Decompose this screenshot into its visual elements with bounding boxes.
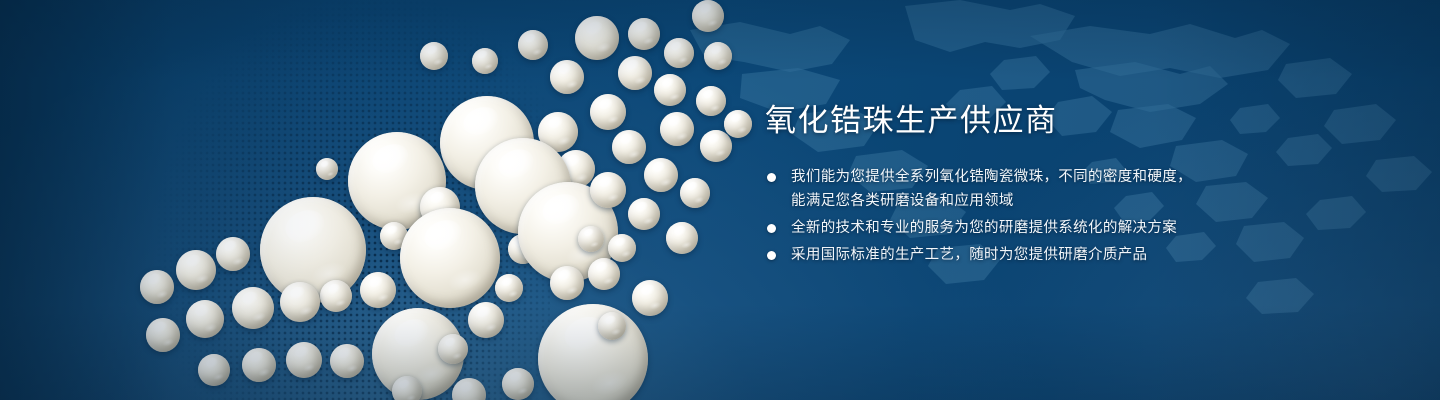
bullet-dot-icon — [767, 251, 776, 260]
feature-list-item-line: 全新的技术和专业的服务为您的研磨提供系统化的解决方案 — [791, 216, 1385, 240]
feature-list-item: 我们能为您提供全系列氧化锆陶瓷微珠，不同的密度和硬度，能满足您各类研磨设备和应用… — [765, 165, 1385, 213]
bullet-dot-icon — [767, 173, 776, 182]
bullet-dot-icon — [767, 224, 776, 233]
hero-banner: 氧化锆珠生产供应商 我们能为您提供全系列氧化锆陶瓷微珠，不同的密度和硬度，能满足… — [0, 0, 1440, 400]
feature-list-item-line: 采用国际标准的生产工艺，随时为您提供研磨介质产品 — [791, 243, 1385, 267]
feature-list: 我们能为您提供全系列氧化锆陶瓷微珠，不同的密度和硬度，能满足您各类研磨设备和应用… — [765, 165, 1385, 267]
page-title: 氧化锆珠生产供应商 — [765, 104, 1385, 139]
feature-list-item: 采用国际标准的生产工艺，随时为您提供研磨介质产品 — [765, 243, 1385, 267]
banner-copy: 氧化锆珠生产供应商 我们能为您提供全系列氧化锆陶瓷微珠，不同的密度和硬度，能满足… — [765, 104, 1385, 270]
feature-list-item-line: 我们能为您提供全系列氧化锆陶瓷微珠，不同的密度和硬度， — [791, 165, 1385, 189]
feature-list-item-line: 能满足您各类研磨设备和应用领域 — [791, 189, 1385, 213]
feature-list-item: 全新的技术和专业的服务为您的研磨提供系统化的解决方案 — [765, 216, 1385, 240]
